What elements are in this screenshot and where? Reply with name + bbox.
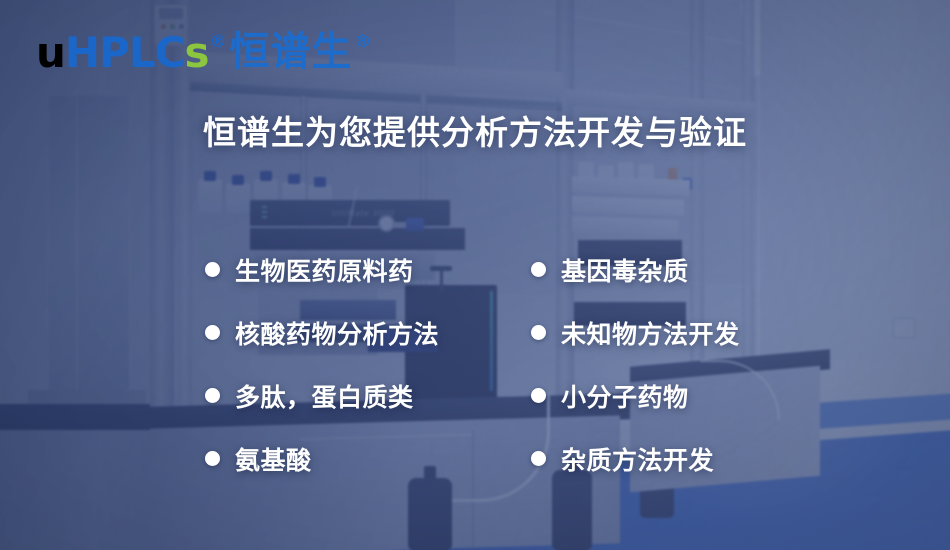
service-item-genotoxic-impurity: 基因毒杂质 [531,252,845,288]
service-item-unknown-compound-method: 未知物方法开发 [531,315,845,351]
service-item-small-molecule-drug: 小分子药物 [531,378,845,414]
banner-headline: 恒谱生为您提供分析方法开发与验证 [0,106,950,154]
service-item-nucleic-acid-method: 核酸药物分析方法 [205,315,531,351]
logo-chinese-name: 恒谱生 [229,32,352,72]
service-label: 未知物方法开发 [561,315,740,351]
logo-letter-s: s [184,32,208,74]
service-label: 多肽，蛋白质类 [235,378,414,414]
bullet-dot-icon [205,388,220,403]
bullet-dot-icon [531,325,546,340]
service-item-peptide-protein: 多肽，蛋白质类 [205,378,531,414]
bullet-dot-icon [205,325,220,340]
service-label: 核酸药物分析方法 [235,315,439,351]
service-label: 氨基酸 [235,441,312,477]
service-item-impurity-method: 杂质方法开发 [531,441,845,477]
service-label: 小分子药物 [561,378,689,414]
promo-banner: UltiMate 3000 [0,0,950,550]
bullet-dot-icon [531,262,546,277]
logo-letter-u: u [36,32,65,74]
bullet-dot-icon [205,262,220,277]
banner-content: u HPLC s ® 恒谱生 ® 恒谱生为您提供分析方法开发与验证 生物医药原料… [0,0,950,550]
service-label: 基因毒杂质 [561,252,689,288]
service-item-amino-acid: 氨基酸 [205,441,531,477]
bullet-dot-icon [205,451,220,466]
service-item-bio-api: 生物医药原料药 [205,252,531,288]
bullet-dot-icon [531,451,546,466]
bullet-dot-icon [531,388,546,403]
logo-text-hplc: HPLC [65,32,185,74]
registered-trademark-icon: ® [209,34,226,51]
service-label: 杂质方法开发 [561,441,714,477]
registered-trademark-icon-secondary: ® [354,34,371,51]
service-label: 生物医药原料药 [235,252,414,288]
service-list: 生物医药原料药 基因毒杂质 核酸药物分析方法 未知物方法开发 多肽，蛋白质类 小… [205,238,845,490]
brand-logo[interactable]: u HPLC s ® 恒谱生 ® [36,32,371,74]
